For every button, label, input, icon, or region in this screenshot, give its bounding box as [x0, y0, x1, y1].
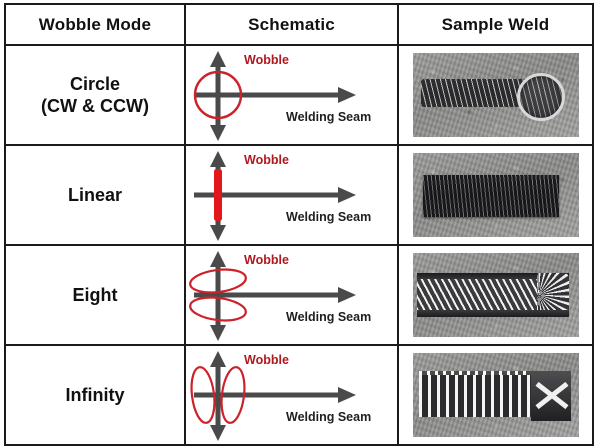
- mode-cell-circle: Circle (CW & CCW): [5, 45, 185, 145]
- sample-weld-linear: [399, 147, 592, 243]
- schematic-cell-linear: Wobble Welding Seam: [185, 145, 398, 245]
- mode-label: Linear: [6, 184, 184, 207]
- schematic-eight: Wobble Welding Seam: [186, 247, 397, 343]
- weld-bead-circular-end: [517, 73, 565, 121]
- weld-photo: [413, 253, 579, 337]
- welding-seam-label: Welding Seam: [286, 310, 371, 324]
- mode-cell-infinity: Infinity: [5, 345, 185, 445]
- sample-cell-linear: [398, 145, 593, 245]
- wobble-label: Wobble: [244, 53, 289, 67]
- schematic-eight-svg: [186, 247, 399, 343]
- mode-cell-eight: Eight: [5, 245, 185, 345]
- weld-bead: [423, 175, 559, 217]
- table-header-row: Wobble Mode Schematic Sample Weld: [5, 4, 593, 45]
- sample-cell-infinity: [398, 345, 593, 445]
- sample-cell-eight: [398, 245, 593, 345]
- mode-label: Circle (CW & CCW): [6, 73, 184, 118]
- schematic-infinity-svg: [186, 347, 399, 443]
- welding-seam-label: Welding Seam: [286, 410, 371, 424]
- header-wobble-mode: Wobble Mode: [5, 4, 185, 45]
- welding-seam-label: Welding Seam: [286, 210, 371, 224]
- mode-label: Infinity: [6, 384, 184, 407]
- sample-weld-eight: [399, 247, 592, 343]
- weld-bead: [419, 375, 537, 417]
- schematic-cell-circle: Wobble Welding Seam: [185, 45, 398, 145]
- mode-label: Eight: [6, 284, 184, 307]
- schematic-linear-svg: [186, 147, 399, 243]
- header-schematic: Schematic: [185, 4, 398, 45]
- schematic-cell-infinity: Wobble Welding Seam: [185, 345, 398, 445]
- schematic-circle-svg: [186, 47, 399, 143]
- wobble-mode-table-container: Wobble Mode Schematic Sample Weld Circle…: [4, 3, 592, 436]
- table-row: Circle (CW & CCW): [5, 45, 593, 145]
- table-row: Eight: [5, 245, 593, 345]
- weld-photo: [413, 53, 579, 137]
- sample-cell-circle: [398, 45, 593, 145]
- wobble-path-linear-bar: [214, 169, 222, 221]
- weld-bead: [421, 79, 533, 107]
- table-row: Infinity: [5, 345, 593, 445]
- schematic-circle: Wobble Welding Seam: [186, 47, 397, 143]
- weld-photo: [413, 153, 579, 237]
- welding-seam-label: Welding Seam: [286, 110, 371, 124]
- wobble-label: Wobble: [244, 353, 289, 367]
- mode-cell-linear: Linear: [5, 145, 185, 245]
- table-row: Linear: [5, 145, 593, 245]
- weld-photo: [413, 353, 579, 437]
- schematic-infinity: Wobble Welding Seam: [186, 347, 397, 443]
- schematic-cell-eight: Wobble Welding Seam: [185, 245, 398, 345]
- wobble-mode-table: Wobble Mode Schematic Sample Weld Circle…: [4, 3, 594, 446]
- wobble-label: Wobble: [244, 153, 289, 167]
- sample-weld-circle: [399, 47, 592, 143]
- wobble-label: Wobble: [244, 253, 289, 267]
- header-sample-weld: Sample Weld: [398, 4, 593, 45]
- schematic-linear: Wobble Welding Seam: [186, 147, 397, 243]
- sample-weld-infinity: [399, 347, 592, 443]
- weld-bead: [417, 279, 547, 311]
- weld-bead-edge-bottom: [417, 310, 569, 317]
